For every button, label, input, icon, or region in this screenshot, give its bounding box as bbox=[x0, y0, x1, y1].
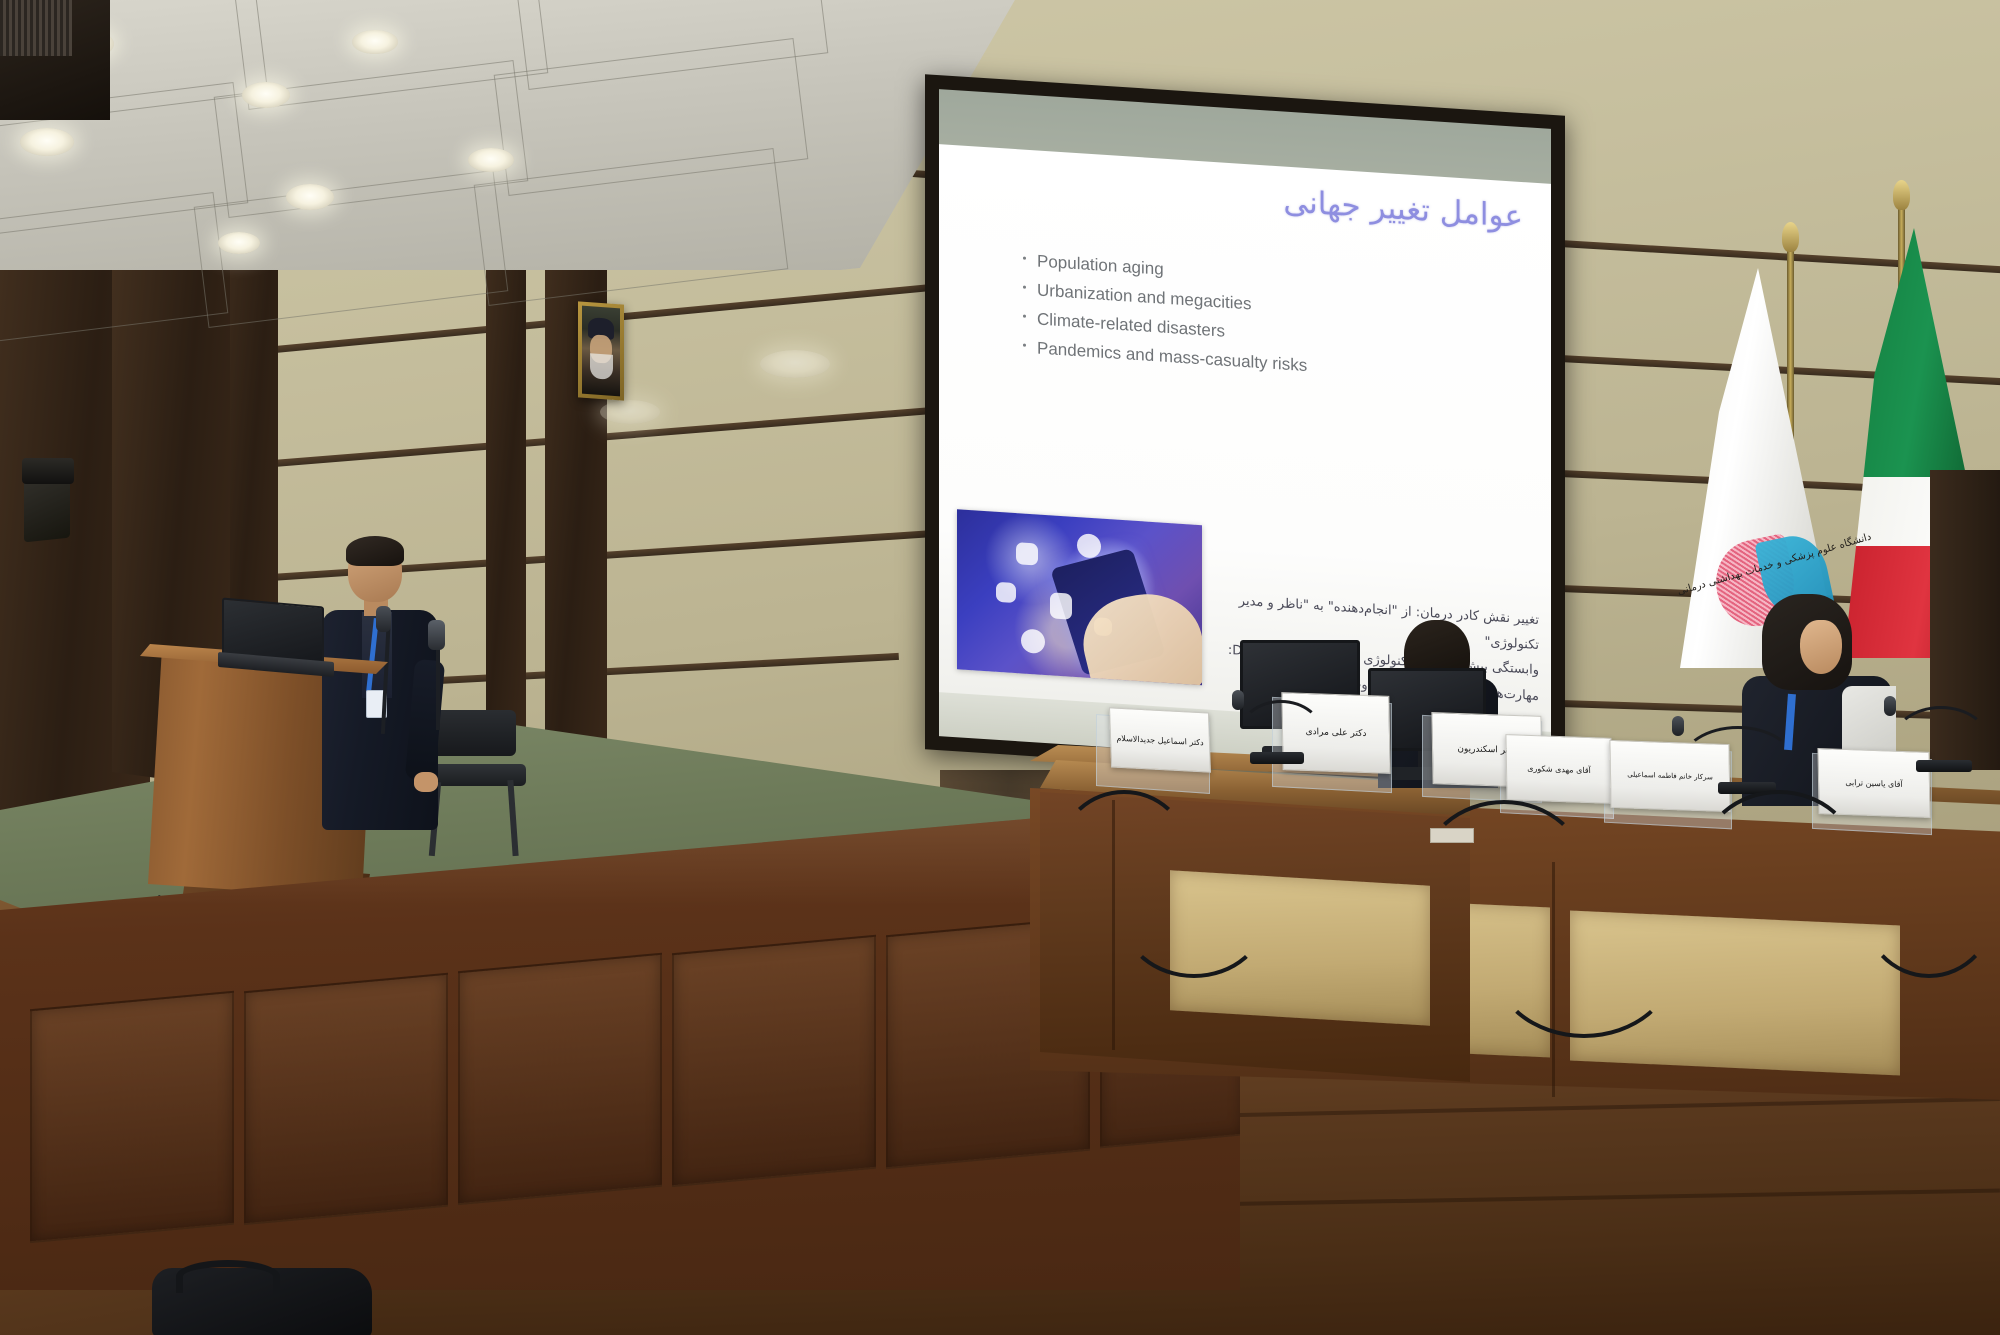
slide-image-smartphone bbox=[957, 509, 1202, 685]
app-icon bbox=[996, 582, 1016, 603]
app-icon bbox=[1050, 592, 1072, 619]
chair-leg bbox=[507, 780, 518, 856]
gooseneck-mic-head bbox=[1672, 716, 1684, 736]
bag-strap bbox=[176, 1260, 280, 1293]
person-face bbox=[1800, 620, 1842, 674]
app-icon bbox=[1077, 533, 1101, 559]
podium-microphone bbox=[428, 620, 445, 650]
stage-panel bbox=[672, 935, 876, 1188]
ceiling-downlight bbox=[600, 400, 660, 424]
gooseneck-mic-head bbox=[1884, 696, 1896, 716]
gooseneck-mic-arm bbox=[1238, 700, 1324, 770]
ceiling-downlight bbox=[218, 232, 260, 254]
stage-panel bbox=[458, 953, 662, 1206]
ceiling-vent bbox=[0, 0, 72, 56]
name-placard: آقای مهدی شکوری bbox=[1505, 734, 1612, 804]
table-cable bbox=[1860, 830, 1998, 978]
table-cable bbox=[1120, 850, 1268, 978]
chair-backrest bbox=[430, 710, 516, 756]
presenter-hand bbox=[414, 772, 438, 792]
ceiling-downlight bbox=[286, 184, 334, 210]
conference-hall-photo: عوامل تغییر جهانی Population aging Urban… bbox=[0, 0, 2000, 1335]
gooseneck-mic-head bbox=[1232, 690, 1244, 710]
slide-title: عوامل تغییر جهانی bbox=[955, 163, 1523, 236]
name-placard: دکتر اسماعیل جدیدالاسلام bbox=[1109, 707, 1211, 772]
gooseneck-mic-arm bbox=[1892, 706, 1990, 778]
ceiling-downlight bbox=[242, 82, 290, 108]
portrait-beard bbox=[590, 353, 613, 380]
ceiling-downlight bbox=[760, 350, 830, 378]
ceiling-downlight bbox=[352, 30, 398, 54]
table-cable bbox=[1700, 790, 1858, 928]
flagpole-finial bbox=[1782, 222, 1799, 252]
stage-panel bbox=[30, 991, 234, 1244]
ceiling-downlight bbox=[468, 148, 514, 172]
stage-panel bbox=[244, 973, 448, 1226]
flagpole-finial bbox=[1893, 180, 1910, 210]
app-icon bbox=[1021, 629, 1045, 655]
ceiling-downlight bbox=[20, 128, 74, 156]
presenter-hair bbox=[346, 536, 404, 566]
podium-microphone bbox=[376, 606, 391, 632]
app-icon bbox=[1016, 542, 1038, 565]
wall-sensor bbox=[22, 458, 74, 484]
presenter bbox=[318, 540, 438, 870]
framed-portrait bbox=[578, 301, 624, 400]
table-cable bbox=[1490, 880, 1678, 1038]
slide-bullet-list: Population aging Urbanization and megaci… bbox=[981, 242, 1535, 395]
